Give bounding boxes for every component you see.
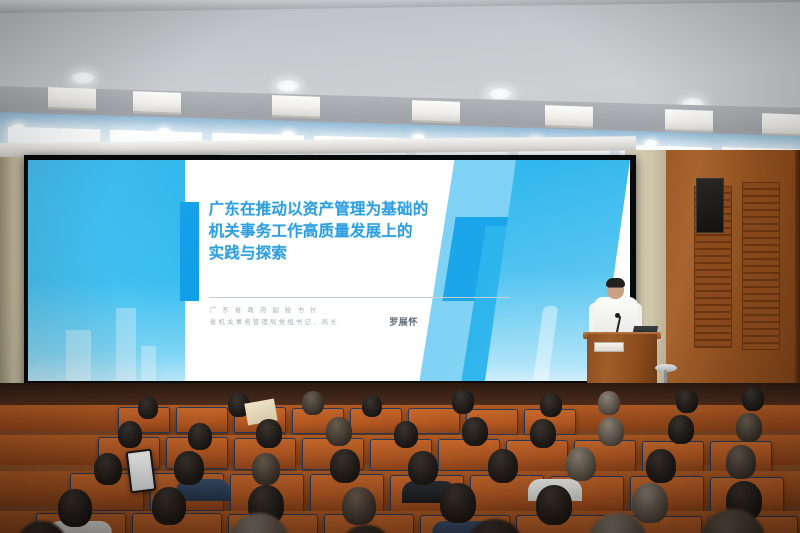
audience-head [118, 421, 142, 448]
audience-head [668, 415, 694, 444]
audience-head [330, 449, 360, 483]
slide-divider-rule [209, 297, 510, 298]
audience-head [726, 445, 756, 479]
audience-head [408, 451, 438, 485]
slide-subtitle-line-1: 广 东 省 政 府 副 秘 书 长 [210, 305, 481, 317]
audience-head [452, 389, 474, 414]
microphone-head [615, 313, 620, 318]
downlight-2 [275, 80, 301, 93]
projection-screen-frame: 广东在推动以资产管理为基础的 机关事务工作高质量发展上的 实践与探索 广 东 省… [24, 155, 636, 389]
speaker-hair [606, 278, 625, 287]
presentation-slide: 广东在推动以资产管理为基础的 机关事务工作高质量发展上的 实践与探索 广 东 省… [28, 160, 630, 381]
audience-head [252, 453, 280, 485]
audience-head [440, 483, 476, 523]
audience-area [0, 383, 800, 533]
audience-head [530, 419, 556, 448]
ceiling-spot-1 [12, 124, 24, 130]
slide-subtitle: 广 东 省 政 府 副 秘 书 长 省机关事务管理局党组书记、局长 [210, 305, 481, 330]
ceiling-top-band [0, 0, 800, 13]
acoustic-panel-3 [272, 95, 320, 119]
audience-head [462, 417, 488, 446]
audience-head [152, 487, 186, 525]
wall-corner [795, 150, 800, 412]
wall-speaker-box [696, 178, 724, 233]
audience-head [188, 423, 212, 450]
acoustic-panel-4 [412, 100, 460, 124]
audience-head [676, 389, 698, 413]
audience-head [646, 449, 676, 483]
audience-head [536, 485, 572, 525]
audience-head [598, 391, 620, 415]
audience-head [174, 451, 204, 485]
audience-head [566, 447, 596, 481]
acoustic-panel-1 [48, 87, 96, 111]
acoustic-panel-6 [665, 109, 713, 133]
slide-building-silhouette-2 [116, 308, 136, 381]
wood-louvre-right [742, 182, 780, 350]
audience-head [742, 387, 764, 411]
slide-tower-silhouette [533, 306, 558, 381]
speaker-at-podium [575, 276, 665, 400]
acoustic-panel-2 [133, 91, 181, 115]
audience-head [632, 483, 668, 523]
audience-head [94, 453, 122, 485]
audience-head [302, 391, 324, 415]
conference-hall-photo: 广东在推动以资产管理为基础的 机关事务工作高质量发展上的 实践与探索 广 东 省… [0, 0, 800, 533]
slide-title-line-1: 广东在推动以资产管理为基础的 [209, 199, 582, 221]
ceiling-spot-3 [282, 131, 294, 137]
projection-screen: 广东在推动以资产管理为基础的 机关事务工作高质量发展上的 实践与探索 广 东 省… [28, 160, 630, 381]
wall-wood-panel [666, 150, 800, 412]
slide-building-silhouette-3 [141, 346, 157, 381]
speaker-glasses [608, 287, 623, 291]
slide-title-line-3: 实践与探索 [209, 243, 582, 265]
slide-title-accent-bar [180, 202, 199, 301]
audience-head [736, 413, 762, 442]
ceiling-spot-2 [158, 128, 170, 134]
slide-building-silhouette-1 [66, 330, 91, 381]
audience-head [488, 449, 518, 483]
slide-left-cyan-panel [28, 160, 185, 381]
audience-head [598, 417, 624, 446]
acoustic-panel-7 [762, 113, 800, 137]
audience-head [138, 397, 158, 419]
audience-head [540, 393, 562, 417]
audience-head [256, 419, 282, 448]
podium-name-plate [594, 342, 624, 352]
downlight-1 [70, 72, 96, 85]
phone-screen [130, 453, 152, 489]
slide-subtitle-line-2: 省机关事务管理局党组书记、局长 [210, 317, 481, 329]
audience-head [394, 421, 418, 448]
acoustic-panel-5 [545, 105, 593, 129]
slide-title-line-2: 机关事务工作高质量发展上的 [209, 221, 582, 243]
slide-title: 广东在推动以资产管理为基础的 机关事务工作高质量发展上的 实践与探索 [209, 199, 582, 265]
audience-phone [126, 449, 157, 494]
ceiling-spot-6 [645, 140, 657, 146]
audience-head [58, 489, 92, 527]
slide-speaker-name: 罗展怀 [389, 315, 418, 328]
audience-head [326, 417, 352, 446]
audience-head [362, 395, 382, 417]
audience-head [342, 487, 376, 525]
ceiling [0, 0, 800, 152]
